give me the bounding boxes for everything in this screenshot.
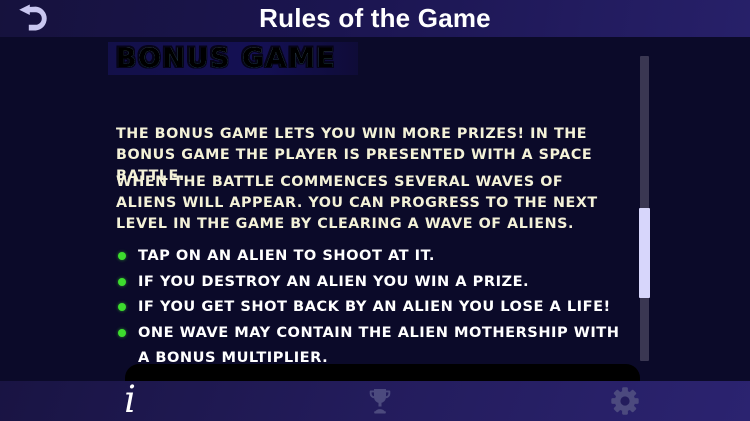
scrollbar-track[interactable] <box>640 56 649 361</box>
nav-item-settings[interactable] <box>580 381 670 421</box>
nav-item-trophy[interactable] <box>335 381 425 421</box>
page-title: Rules of the Game <box>0 0 750 37</box>
trophy-icon <box>365 386 395 416</box>
scrollbar-thumb[interactable] <box>639 208 650 298</box>
gear-icon <box>610 386 640 416</box>
header-bar: Rules of the Game <box>0 0 750 37</box>
list-item: If you destroy an alien you win a prize. <box>116 269 626 295</box>
info-icon: i <box>124 383 136 417</box>
rules-screen: Rules of the Game BONUS GAME The bonus g… <box>0 0 750 421</box>
bottom-navigation-bar: i <box>0 381 750 421</box>
section-title: BONUS GAME <box>116 43 336 74</box>
list-item: Tap on an alien to shoot at it. <box>116 243 626 269</box>
content-bottom-mask <box>125 364 640 381</box>
rules-bullet-list: Tap on an alien to shoot at it. If you d… <box>116 243 626 370</box>
rules-content-panel[interactable]: BONUS GAME The bonus game lets you win m… <box>0 37 750 370</box>
list-item: One wave may contain the alien mothershi… <box>116 320 626 371</box>
list-item: If you get shot back by an alien you los… <box>116 294 626 320</box>
nav-item-info[interactable]: i <box>85 381 175 421</box>
paragraph-battle: When the battle commences several waves … <box>116 172 621 235</box>
